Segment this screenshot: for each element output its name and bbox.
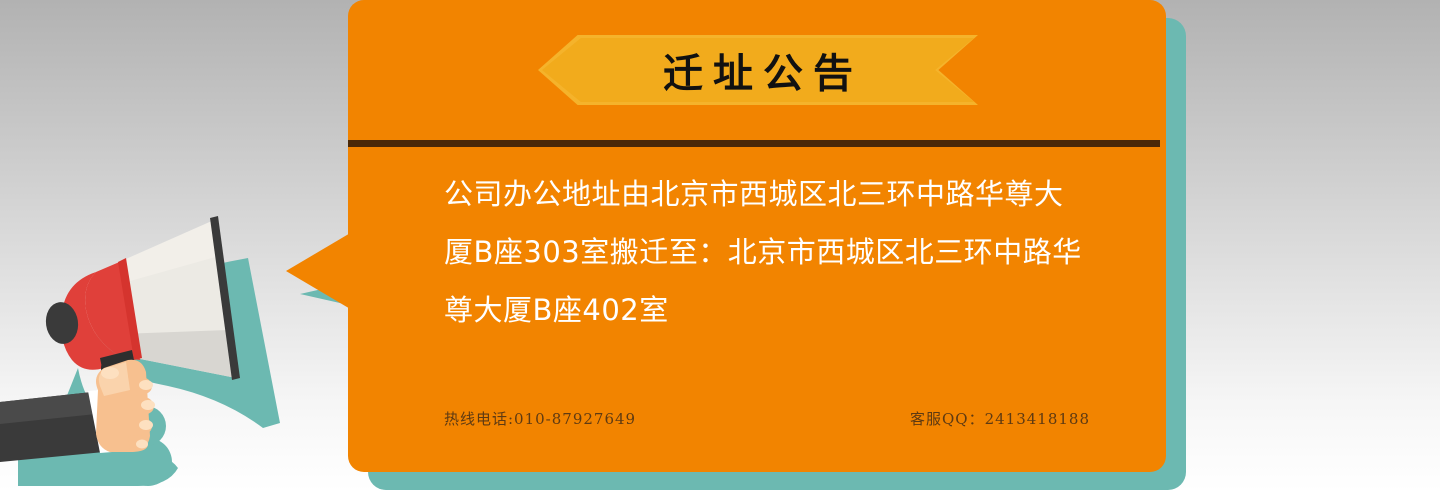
notice-body-text: 公司办公地址由北京市西城区北三环中路华尊大厦B座303室搬迁至：北京市西城区北三… [444, 165, 1090, 339]
megaphone-illustration [0, 190, 300, 492]
header-divider [348, 140, 1160, 147]
hotline-text: 热线电话:010-87927649 [444, 408, 636, 429]
megaphone-icon [0, 190, 300, 492]
contact-footer: 热线电话:010-87927649 客服QQ：2413418188 [444, 408, 1090, 429]
page-title: 迁址公告 [538, 35, 978, 105]
qq-text: 客服QQ：2413418188 [910, 408, 1090, 429]
speech-tail [286, 232, 352, 310]
announcement-banner-image: 迁址公告 公司办公地址由北京市西城区北三环中路华尊大厦B座303室搬迁至：北京市… [0, 0, 1440, 492]
